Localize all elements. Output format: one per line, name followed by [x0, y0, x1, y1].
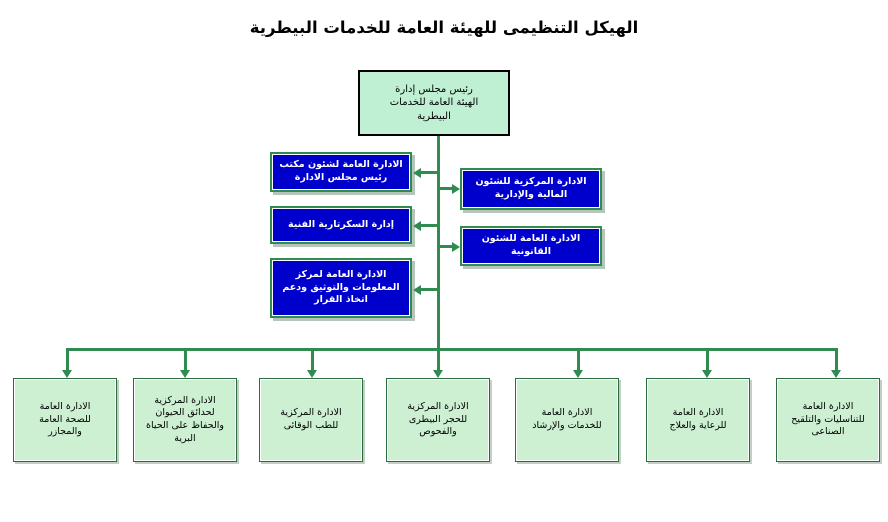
node-department-4-label: الادارة المركزية للطب الوقائى [260, 407, 362, 432]
node-department-0-label: الادارة العامة للتناسليات والتلقيح الصنا… [777, 401, 879, 439]
arrow-down-2-icon [573, 370, 583, 378]
node-staff-left-0[interactable]: الادارة العامة لشئون مكتب رئيس مجلس الاد… [270, 152, 412, 192]
arrow-left-0-icon [413, 168, 421, 178]
arrow-down-6-icon [62, 370, 72, 378]
department-drop-3 [437, 348, 440, 372]
node-department-5-label: الادارة المركزية لحدائق الحيوان والحفاظ … [134, 395, 236, 445]
node-staff-left-2[interactable]: الادارة العامة لمركز المعلومات والتوثيق … [270, 258, 412, 318]
node-root-chairman-label: رئيس مجلس إدارة الهيئة العامة للخدمات ال… [360, 83, 508, 123]
department-drop-4 [311, 348, 314, 372]
department-drop-5 [184, 348, 187, 372]
arrow-right-0-icon [452, 184, 460, 194]
node-department-6-label: الادارة العامة للصحة العامة والمجازر [14, 401, 116, 439]
node-staff-right-1[interactable]: الادارة العامة للشئون القانونية [460, 226, 602, 266]
node-department-3-label: الادارة المركزية للحجر البيطرى والفحوص [387, 401, 489, 439]
connector-left-2 [421, 288, 438, 291]
node-department-5[interactable]: الادارة المركزية لحدائق الحيوان والحفاظ … [133, 378, 237, 462]
node-department-2-label: الادارة العامة للخدمات والإرشاد [516, 407, 618, 432]
connector-right-0 [437, 187, 453, 190]
arrow-down-0-icon [831, 370, 841, 378]
arrow-left-2-icon [413, 285, 421, 295]
node-staff-left-0-label: الادارة العامة لشئون مكتب رئيس مجلس الاد… [272, 159, 410, 184]
arrow-down-5-icon [180, 370, 190, 378]
org-chart-canvas: الهيكل التنظيمى للهيئة العامة للخدمات ال… [0, 0, 888, 522]
node-staff-right-0-label: الادارة المركزية للشئون المالية والإداري… [462, 176, 600, 201]
node-staff-left-1-label: إدارة السكرتارية الفنية [272, 219, 410, 232]
arrow-down-4-icon [307, 370, 317, 378]
node-department-4[interactable]: الادارة المركزية للطب الوقائى [259, 378, 363, 462]
connector-left-0 [421, 171, 438, 174]
department-bus-line [66, 348, 838, 351]
arrow-right-1-icon [452, 242, 460, 252]
arrow-down-1-icon [702, 370, 712, 378]
department-drop-0 [835, 348, 838, 372]
node-root-chairman[interactable]: رئيس مجلس إدارة الهيئة العامة للخدمات ال… [358, 70, 510, 136]
node-department-0[interactable]: الادارة العامة للتناسليات والتلقيح الصنا… [776, 378, 880, 462]
department-drop-1 [706, 348, 709, 372]
department-drop-2 [577, 348, 580, 372]
node-staff-left-2-label: الادارة العامة لمركز المعلومات والتوثيق … [272, 269, 410, 307]
arrow-down-3-icon [433, 370, 443, 378]
node-department-1[interactable]: الادارة العامة للرعاية والعلاج [646, 378, 750, 462]
connector-left-1 [421, 224, 438, 227]
node-department-3[interactable]: الادارة المركزية للحجر البيطرى والفحوص [386, 378, 490, 462]
trunk-vertical-line [437, 136, 440, 350]
connector-right-1 [437, 245, 453, 248]
node-staff-right-1-label: الادارة العامة للشئون القانونية [462, 233, 600, 258]
arrow-left-1-icon [413, 221, 421, 231]
page-title: الهيكل التنظيمى للهيئة العامة للخدمات ال… [228, 18, 660, 37]
node-department-6[interactable]: الادارة العامة للصحة العامة والمجازر [13, 378, 117, 462]
node-staff-left-1[interactable]: إدارة السكرتارية الفنية [270, 206, 412, 244]
node-department-1-label: الادارة العامة للرعاية والعلاج [647, 407, 749, 432]
node-department-2[interactable]: الادارة العامة للخدمات والإرشاد [515, 378, 619, 462]
node-staff-right-0[interactable]: الادارة المركزية للشئون المالية والإداري… [460, 168, 602, 210]
department-drop-6 [66, 348, 69, 372]
